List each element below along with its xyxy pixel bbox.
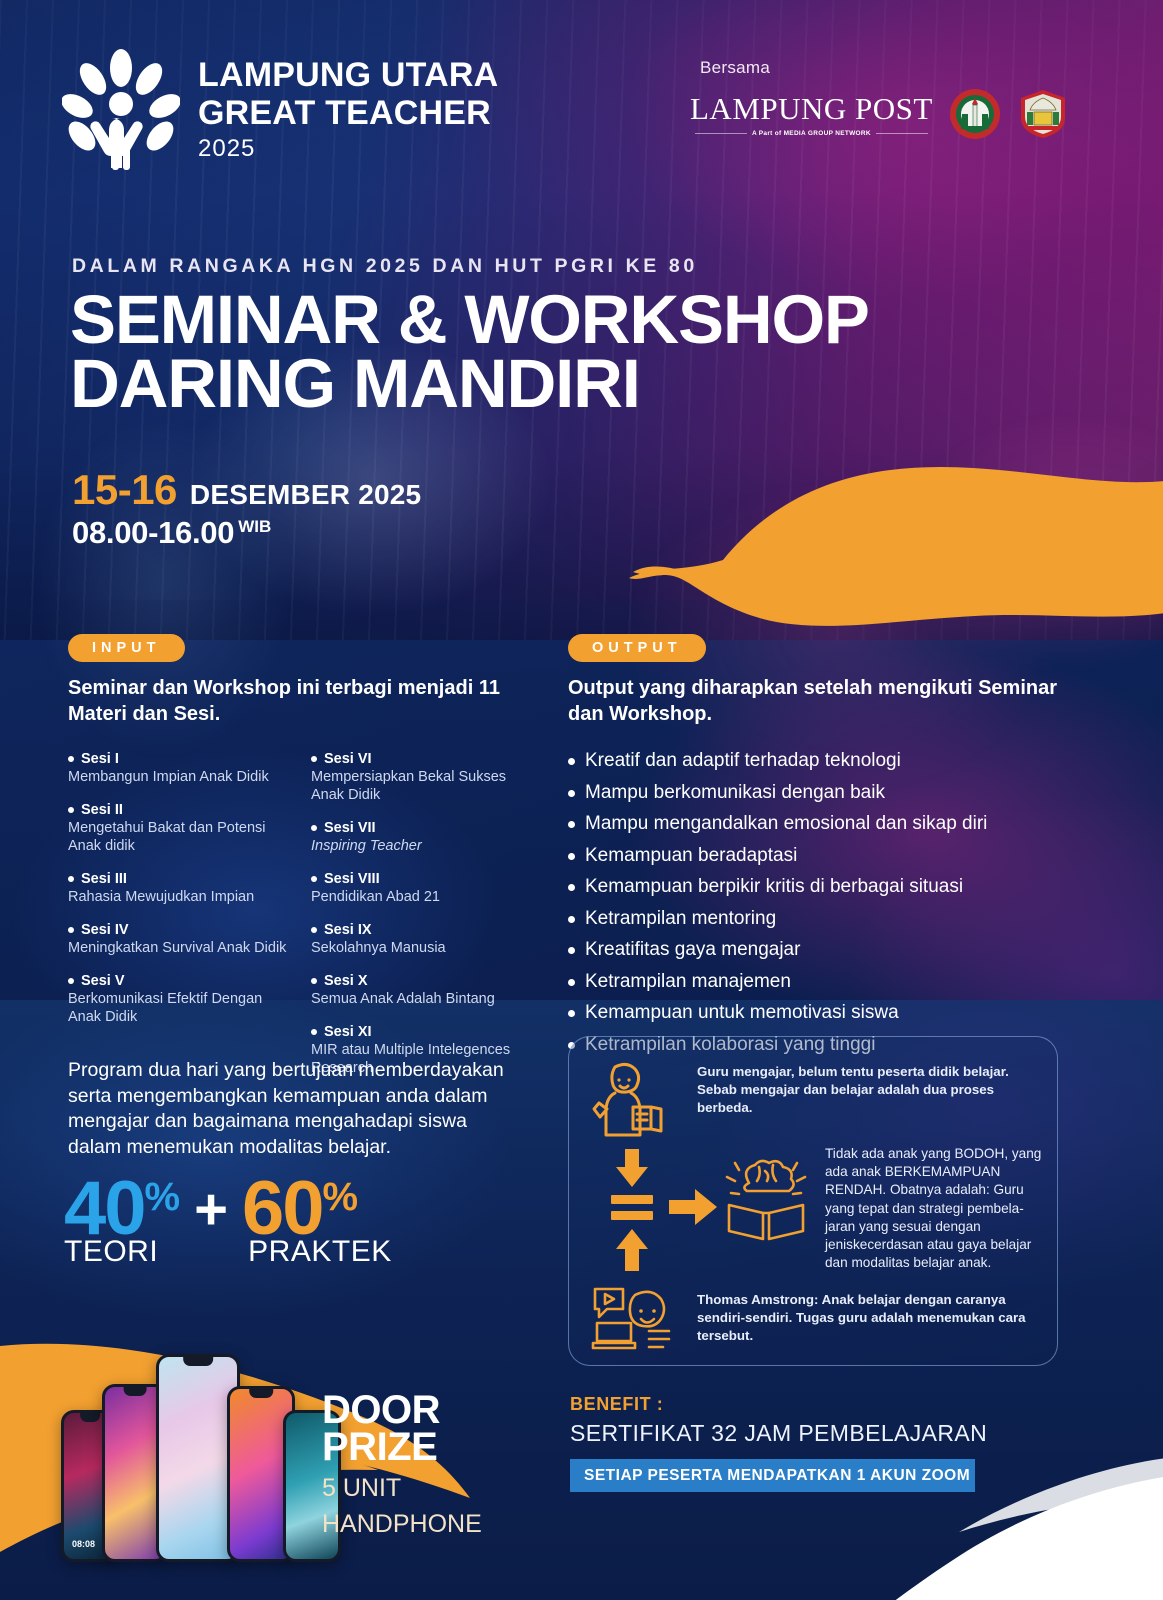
doorprize-sub-2: HANDPHONE	[322, 1511, 482, 1538]
doorprize-block: DOOR PRIZE 5 UNIT HANDPHONE	[322, 1392, 482, 1538]
bersama-label: Bersama	[700, 58, 1090, 78]
output-text: Kreatif dan adaptif terhadap teknologi	[585, 749, 901, 773]
logo-year: 2025	[198, 137, 498, 161]
bullet-icon	[311, 927, 317, 933]
session-desc: Semua Anak Adalah Bintang	[311, 991, 538, 1009]
list-item: Mampu mengandalkan emosional dan sikap d…	[568, 812, 1068, 836]
poster-header: LAMPUNG UTARA GREAT TEACHER 2025 Bersama…	[0, 0, 1163, 196]
session-title: Sesi VI	[324, 751, 372, 767]
quotes-box: Guru mengajar, belum tentu peserta didik…	[568, 1036, 1058, 1366]
bullet-icon	[311, 1029, 317, 1035]
phone-clock: 08:08	[72, 1539, 95, 1549]
bullet-icon	[68, 927, 74, 933]
output-text: Kreatifitas gaya mengajar	[585, 938, 800, 962]
session-title: Sesi VII	[324, 820, 376, 836]
list-item: Kemampuan untuk memotivasi siswa	[568, 1001, 1068, 1025]
list-item: Kreatifitas gaya mengajar	[568, 938, 1068, 962]
output-list: Kreatif dan adaptif terhadap teknologi M…	[568, 749, 1068, 1056]
list-item: Ketrampilan manajemen	[568, 970, 1068, 994]
bullet-icon	[568, 821, 575, 828]
output-text: Kemampuan beradaptasi	[585, 844, 797, 868]
theory-number: 40	[64, 1175, 145, 1243]
list-item: Sesi VII Inspiring Teacher	[311, 820, 538, 856]
session-desc: Meningkatkan Survival Anak Didik	[68, 940, 295, 958]
partners-block: Bersama LAMPUNG POST A Part of MEDIA GRO…	[690, 58, 1090, 140]
rule-left	[695, 133, 747, 134]
practice-percent-sign: %	[323, 1177, 359, 1217]
session-desc: Mengetahui Bakat dan Potensi Anak didik	[68, 820, 295, 856]
session-desc: Berkomunikasi Efektif Dengan Anak Didik	[68, 991, 295, 1027]
session-desc: Mempersiapkan Bekal Sukses Anak Didik	[311, 769, 538, 805]
session-title: Sesi II	[81, 802, 123, 818]
arrow-up-icon	[616, 1229, 648, 1271]
bullet-icon	[311, 978, 317, 984]
white-swoosh-shape	[753, 1434, 1163, 1600]
list-item: Kreatif dan adaptif terhadap teknologi	[568, 749, 1068, 773]
pgri-emblem-icon	[949, 88, 1001, 140]
list-item: Sesi VI Mempersiapkan Bekal Sukses Anak …	[311, 751, 538, 805]
list-item: Sesi IV Meningkatkan Survival Anak Didik	[68, 922, 295, 958]
session-title: Sesi I	[81, 751, 119, 767]
date-days: 15-16	[72, 466, 177, 514]
lampung-post-name: LAMPUNG POST	[690, 91, 933, 127]
phone-notch	[80, 1413, 100, 1422]
output-text: Mampu mengandalkan emosional dan sikap d…	[585, 812, 987, 836]
process-arrows-icon	[599, 1149, 669, 1289]
input-lead: Seminar dan Workshop ini terbagi menjadi…	[68, 675, 538, 727]
event-time: 08.00-16.00 WIB	[72, 515, 271, 551]
quote-text-2: Tidak ada anak yang BODOH, yang ada anak…	[825, 1145, 1047, 1272]
theory-percent-sign: %	[145, 1177, 181, 1217]
session-desc: Sekolahnya Manusia	[311, 940, 538, 958]
logo-line-2: GREAT TEACHER	[198, 96, 498, 130]
output-pill: OUTPUT	[568, 634, 706, 662]
equals-icon	[611, 1195, 653, 1204]
event-date: 15-16 DESEMBER 2025	[72, 466, 421, 514]
session-desc: Rahasia Mewujudkan Impian	[68, 889, 295, 907]
bullet-icon	[68, 876, 74, 882]
output-text: Kemampuan untuk memotivasi siswa	[585, 1001, 899, 1025]
list-item: Sesi VIII Pendidikan Abad 21	[311, 871, 538, 907]
arrow-right-icon	[669, 1189, 717, 1225]
poster-root: LAMPUNG UTARA GREAT TEACHER 2025 Bersama…	[0, 0, 1163, 1600]
output-text: Ketrampilan mentoring	[585, 907, 776, 931]
ratio-labels: TEORI PRAKTEK	[64, 1235, 392, 1269]
list-item: Sesi III Rahasia Mewujudkan Impian	[68, 871, 295, 907]
practice-label: PRAKTEK	[248, 1235, 392, 1269]
bullet-icon	[568, 790, 575, 797]
arrow-down-icon	[616, 1149, 648, 1187]
phone-notch	[183, 1357, 213, 1366]
list-item: Sesi X Semua Anak Adalah Bintang	[311, 973, 538, 1009]
hero-kicker: DALAM RANGAKA HGN 2025 DAN HUT PGRI KE 8…	[72, 255, 698, 278]
teacher-reading-book-icon	[591, 1059, 665, 1151]
date-month: DESEMBER 2025	[190, 479, 421, 511]
tree-person-icon	[62, 48, 180, 170]
bullet-icon	[568, 916, 575, 923]
list-item: Mampu berkomunikasi dengan baik	[568, 781, 1068, 805]
bullet-icon	[568, 979, 575, 986]
session-title: Sesi V	[81, 973, 125, 989]
lampung-post-logo: LAMPUNG POST A Part of MEDIA GROUP NETWO…	[690, 91, 933, 137]
program-description: Program dua hari yang bertujuan memberda…	[68, 1058, 518, 1161]
output-lead: Output yang diharapkan setelah mengikuti…	[568, 675, 1068, 727]
sessions-column-1: Sesi I Membangun Impian Anak Didik Sesi …	[68, 751, 295, 1093]
logo-line-1: LAMPUNG UTARA	[198, 58, 498, 92]
session-desc: Pendidikan Abad 21	[311, 889, 538, 907]
session-title: Sesi VIII	[324, 871, 380, 887]
bullet-icon	[568, 853, 575, 860]
output-section: OUTPUT Output yang diharapkan setelah me…	[568, 634, 1068, 1064]
phone-notch	[124, 1387, 147, 1396]
practice-ratio: 60 %	[242, 1175, 358, 1243]
bullet-icon	[568, 947, 575, 954]
session-desc: Inspiring Teacher	[311, 838, 538, 856]
doorprize-sub-1: 5 UNIT	[322, 1475, 482, 1502]
session-title: Sesi XI	[324, 1024, 372, 1040]
sessions-column-2: Sesi VI Mempersiapkan Bekal Sukses Anak …	[311, 751, 538, 1093]
bullet-icon	[568, 758, 575, 765]
quote-text-1: Guru mengajar, belum tentu peserta didik…	[697, 1063, 1035, 1116]
lampung-utara-regency-emblem-icon	[1017, 88, 1069, 140]
bullet-icon	[568, 1010, 575, 1017]
doorprize-line-1: DOOR	[322, 1392, 482, 1429]
doorprize-line-2: PRIZE	[322, 1429, 482, 1466]
list-item: Sesi II Mengetahui Bakat dan Potensi Ana…	[68, 802, 295, 856]
list-item: Sesi V Berkomunikasi Efektif Dengan Anak…	[68, 973, 295, 1027]
input-pill: INPUT	[68, 634, 185, 662]
plus-sign: +	[194, 1181, 228, 1239]
page-title: SEMINAR & WORKSHOP DARING MANDIRI	[70, 288, 869, 416]
list-item: Sesi I Membangun Impian Anak Didik	[68, 751, 295, 787]
bullet-icon	[68, 978, 74, 984]
practice-number: 60	[242, 1175, 323, 1243]
output-text: Kemampuan berpikir kritis di berbagai si…	[585, 875, 963, 899]
time-range: 08.00-16.00	[72, 515, 234, 551]
bullet-icon	[568, 884, 575, 891]
output-text: Mampu berkomunikasi dengan baik	[585, 781, 885, 805]
session-title: Sesi X	[324, 973, 368, 989]
title-line-2: DARING MANDIRI	[70, 352, 869, 416]
session-title: Sesi III	[81, 871, 127, 887]
bullet-icon	[311, 876, 317, 882]
rule-right	[876, 133, 928, 134]
lampung-post-subtitle: A Part of MEDIA GROUP NETWORK	[752, 130, 871, 137]
student-laptop-video-icon	[591, 1283, 675, 1353]
brain-on-open-book-icon	[719, 1157, 813, 1243]
time-zone: WIB	[238, 517, 271, 537]
input-section: INPUT Seminar dan Workshop ini terbagi m…	[68, 634, 538, 1093]
quote-text-3: Thomas Amstrong: Anak belajar dengan car…	[697, 1291, 1027, 1344]
theory-ratio: 40 %	[64, 1175, 180, 1243]
list-item: Kemampuan berpikir kritis di berbagai si…	[568, 875, 1068, 899]
list-item: Sesi IX Sekolahnya Manusia	[311, 922, 538, 958]
bullet-icon	[68, 756, 74, 762]
benefit-heading: BENEFIT :	[570, 1394, 987, 1415]
bullet-icon	[311, 825, 317, 831]
list-item: Ketrampilan mentoring	[568, 907, 1068, 931]
list-item: Kemampuan beradaptasi	[568, 844, 1068, 868]
session-title: Sesi IV	[81, 922, 129, 938]
brand-logo: LAMPUNG UTARA GREAT TEACHER 2025	[62, 48, 498, 170]
theory-label: TEORI	[64, 1235, 158, 1269]
bullet-icon	[311, 756, 317, 762]
phone-notch	[249, 1389, 273, 1398]
session-title: Sesi IX	[324, 922, 372, 938]
output-text: Ketrampilan manajemen	[585, 970, 791, 994]
session-desc: Membangun Impian Anak Didik	[68, 769, 295, 787]
bullet-icon	[68, 807, 74, 813]
ratio-block: 40 % + 60 %	[64, 1175, 358, 1243]
